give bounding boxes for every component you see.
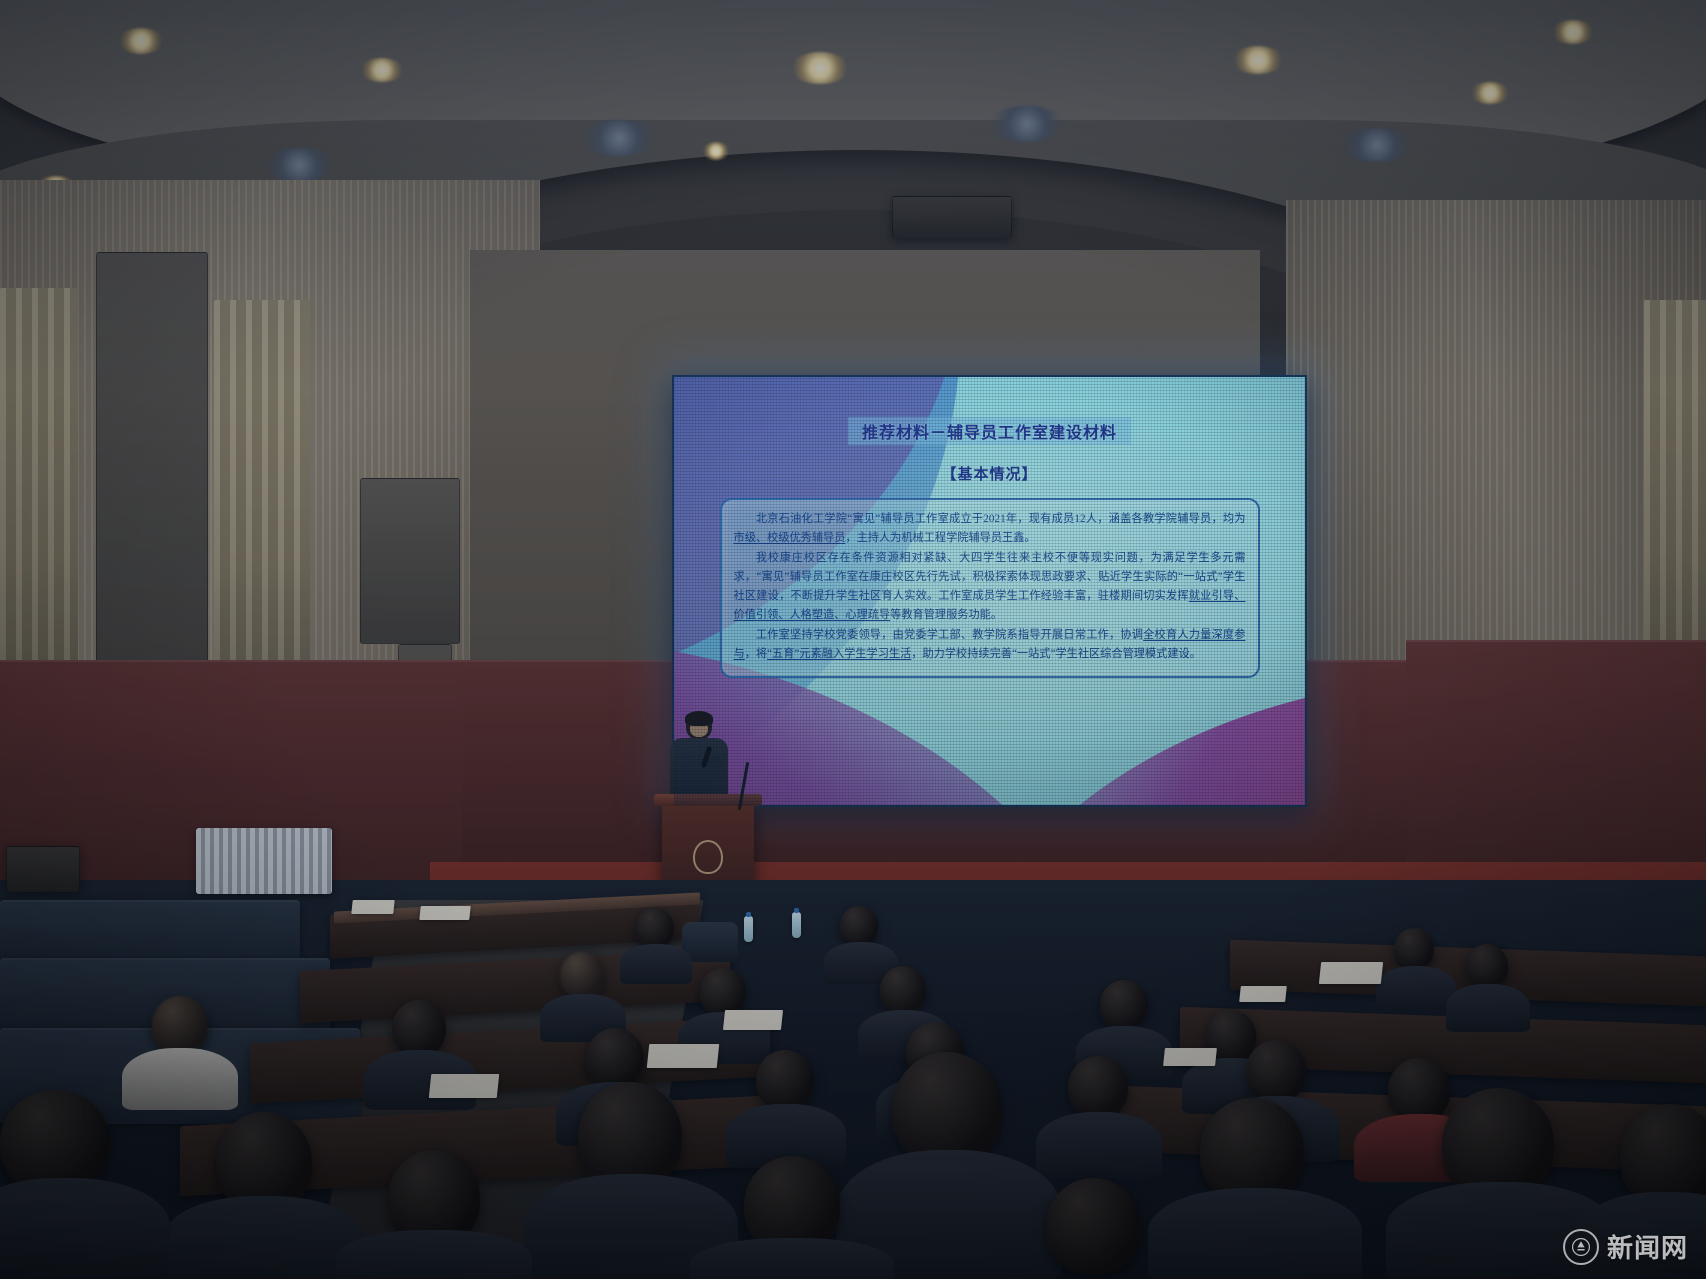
ceiling-light: [118, 28, 164, 54]
watermark-text: 新闻网: [1607, 1228, 1688, 1265]
water-bottle: [744, 916, 753, 942]
audience-head: [880, 966, 926, 1014]
auditorium-photo: 推荐材料－辅导员工作室建设材料 【基本情况】 北京石油化工学院“寓见”辅导员工作…: [0, 0, 1706, 1279]
audience-head: [1246, 1040, 1306, 1102]
slide-paragraph: 我校康庄校区存在条件资源相对紧缺、大四学生往来主校不便等现实问题，为满足学生多元…: [734, 549, 1246, 626]
slide-paragraph: 北京石油化工学院“寓见”辅导员工作室成立于2021年，现有成员12人，涵盖各教学…: [734, 510, 1246, 549]
audience-shoulders-foreground: [164, 1196, 364, 1279]
audience-head: [756, 1050, 814, 1110]
notebook: [1239, 986, 1287, 1002]
audience-head-foreground: [1046, 1178, 1140, 1274]
slide-title: 推荐材料－辅导员工作室建设材料: [848, 417, 1131, 445]
ceiling-light: [1340, 128, 1414, 162]
notebook: [419, 906, 470, 920]
ceiling-light: [1470, 82, 1510, 104]
notebook: [1319, 962, 1383, 984]
wall-panel-center: [360, 478, 460, 644]
slide-surface: 推荐材料－辅导员工作室建设材料 【基本情况】 北京石油化工学院“寓见”辅导员工作…: [674, 377, 1305, 805]
ceiling-light: [790, 52, 850, 84]
audience-head: [1068, 1056, 1128, 1118]
notebook: [647, 1044, 720, 1068]
news-logo-icon: [1563, 1229, 1599, 1265]
audience-head: [700, 968, 746, 1016]
audience-head: [152, 996, 208, 1054]
wall-panel-left: [96, 252, 208, 722]
ceiling-light: [360, 58, 404, 82]
slide-body-box: 北京石油化工学院“寓见”辅导员工作室成立于2021年，现有成员12人，涵盖各教学…: [720, 498, 1260, 678]
slide-content: 推荐材料－辅导员工作室建设材料 【基本情况】 北京石油化工学院“寓见”辅导员工作…: [674, 377, 1305, 805]
audience-shoulders-foreground: [1148, 1188, 1362, 1279]
audience-shoulders-foreground: [0, 1178, 170, 1279]
audience-head: [1100, 980, 1148, 1030]
watermark: 新闻网: [1563, 1228, 1688, 1265]
projection-screen: 推荐材料－辅导员工作室建设材料 【基本情况】 北京石油化工学院“寓见”辅导员工作…: [672, 375, 1307, 807]
water-bottle: [792, 912, 801, 938]
audience-head: [560, 952, 604, 998]
floor-equipment: [6, 846, 80, 892]
presenter-hair: [685, 711, 713, 726]
audience-head: [1394, 928, 1434, 970]
notebook: [1163, 1048, 1217, 1066]
ceiling-light: [703, 142, 729, 160]
ceiling-projector-housing: [892, 196, 1012, 238]
audience-head: [392, 1000, 446, 1056]
ceiling-light: [580, 120, 658, 156]
audience-shoulders-foreground: [690, 1238, 894, 1279]
school-emblem-icon: [693, 840, 723, 874]
audience-head: [840, 906, 878, 946]
audience-shoulders: [1036, 1112, 1162, 1178]
audience-head: [1466, 944, 1508, 988]
audience-head: [1388, 1058, 1450, 1122]
audience-shoulders: [1376, 966, 1456, 1010]
audience-shoulders: [1446, 984, 1530, 1032]
notebook: [723, 1010, 783, 1030]
audience-shoulders: [620, 944, 692, 984]
audience-head-foreground: [892, 1052, 1002, 1166]
slide-subtitle: 【基本情况】: [941, 463, 1037, 484]
audience-shoulders: [122, 1048, 238, 1110]
notebook: [351, 900, 394, 914]
podium-top-surface: [654, 794, 762, 806]
radiator: [196, 828, 332, 894]
ceiling-light: [988, 106, 1066, 142]
slide-paragraph: 工作室坚持学校党委领导，由党委学工部、教学院系指导开展日常工作，协调全校育人力量…: [734, 626, 1246, 665]
ceiling-light: [262, 148, 336, 182]
notebook: [429, 1074, 500, 1098]
audience-shoulders-foreground: [336, 1230, 532, 1279]
curtain-left-2: [214, 300, 310, 720]
ceiling-light: [1232, 46, 1284, 74]
audience-head: [586, 1028, 644, 1088]
curtain-left: [0, 288, 78, 718]
ceiling-light: [1552, 20, 1594, 44]
audience-head: [636, 908, 674, 948]
